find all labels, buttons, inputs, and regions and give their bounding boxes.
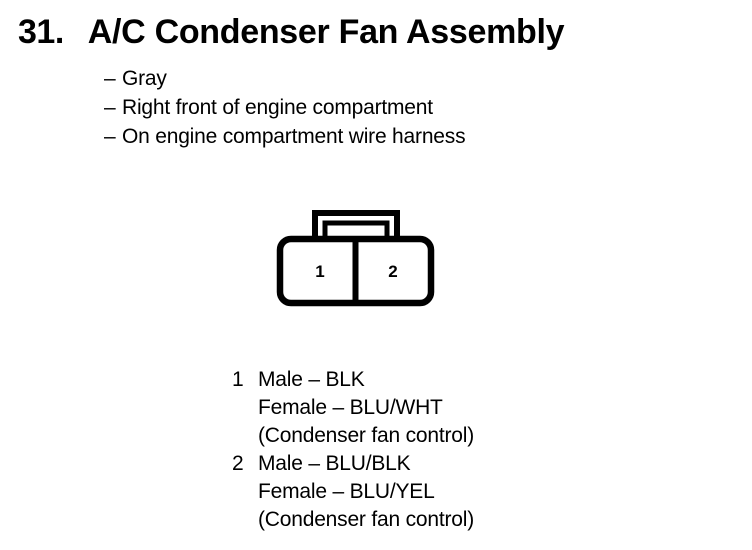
spec-list-item-label: Right front of engine compartment (122, 93, 433, 122)
pin-female-wire-color: Female – BLU/YEL (258, 478, 435, 506)
en-dash-bullet-icon: – (104, 93, 122, 122)
connector-spec-list: – Gray – Right front of engine compartme… (104, 64, 465, 151)
spec-list-item: – Gray (104, 64, 465, 93)
page-heading: 31. A/C Condenser Fan Assembly (18, 13, 564, 51)
pin-male-row: 2 Male – BLU/BLK (232, 450, 474, 478)
pin-number: 2 (232, 450, 258, 478)
pin-description-block: 2 Male – BLU/BLK Female – BLU/YEL (Conde… (232, 450, 474, 534)
heading-item-number: 31. (18, 13, 64, 51)
pin-male-row: 1 Male – BLK (232, 366, 474, 394)
spec-list-item-label: Gray (122, 64, 167, 93)
cavity-label-1: 1 (315, 262, 324, 281)
pin-male-wire-color: Male – BLU/BLK (258, 450, 410, 478)
pin-function-row: (Condenser fan control) (232, 506, 474, 534)
pin-female-row: Female – BLU/YEL (232, 478, 474, 506)
spec-list-item: – On engine compartment wire harness (104, 122, 465, 151)
pin-function-label: (Condenser fan control) (258, 422, 474, 450)
pin-description-list: 1 Male – BLK Female – BLU/WHT (Condenser… (232, 366, 474, 534)
connector-diagram: 1 2 (265, 200, 445, 315)
cavity-label-2: 2 (388, 262, 397, 281)
pin-number: 1 (232, 366, 258, 394)
pin-function-label: (Condenser fan control) (258, 506, 474, 534)
pin-female-row: Female – BLU/WHT (232, 394, 474, 422)
spec-list-item-label: On engine compartment wire harness (122, 122, 465, 151)
spec-list-item: – Right front of engine compartment (104, 93, 465, 122)
en-dash-bullet-icon: – (104, 64, 122, 93)
pin-male-wire-color: Male – BLK (258, 366, 365, 394)
en-dash-bullet-icon: – (104, 122, 122, 151)
pin-description-block: 1 Male – BLK Female – BLU/WHT (Condenser… (232, 366, 474, 450)
page-title: A/C Condenser Fan Assembly (88, 13, 565, 51)
pin-function-row: (Condenser fan control) (232, 422, 474, 450)
connector-svg: 1 2 (265, 200, 445, 315)
pin-female-wire-color: Female – BLU/WHT (258, 394, 443, 422)
